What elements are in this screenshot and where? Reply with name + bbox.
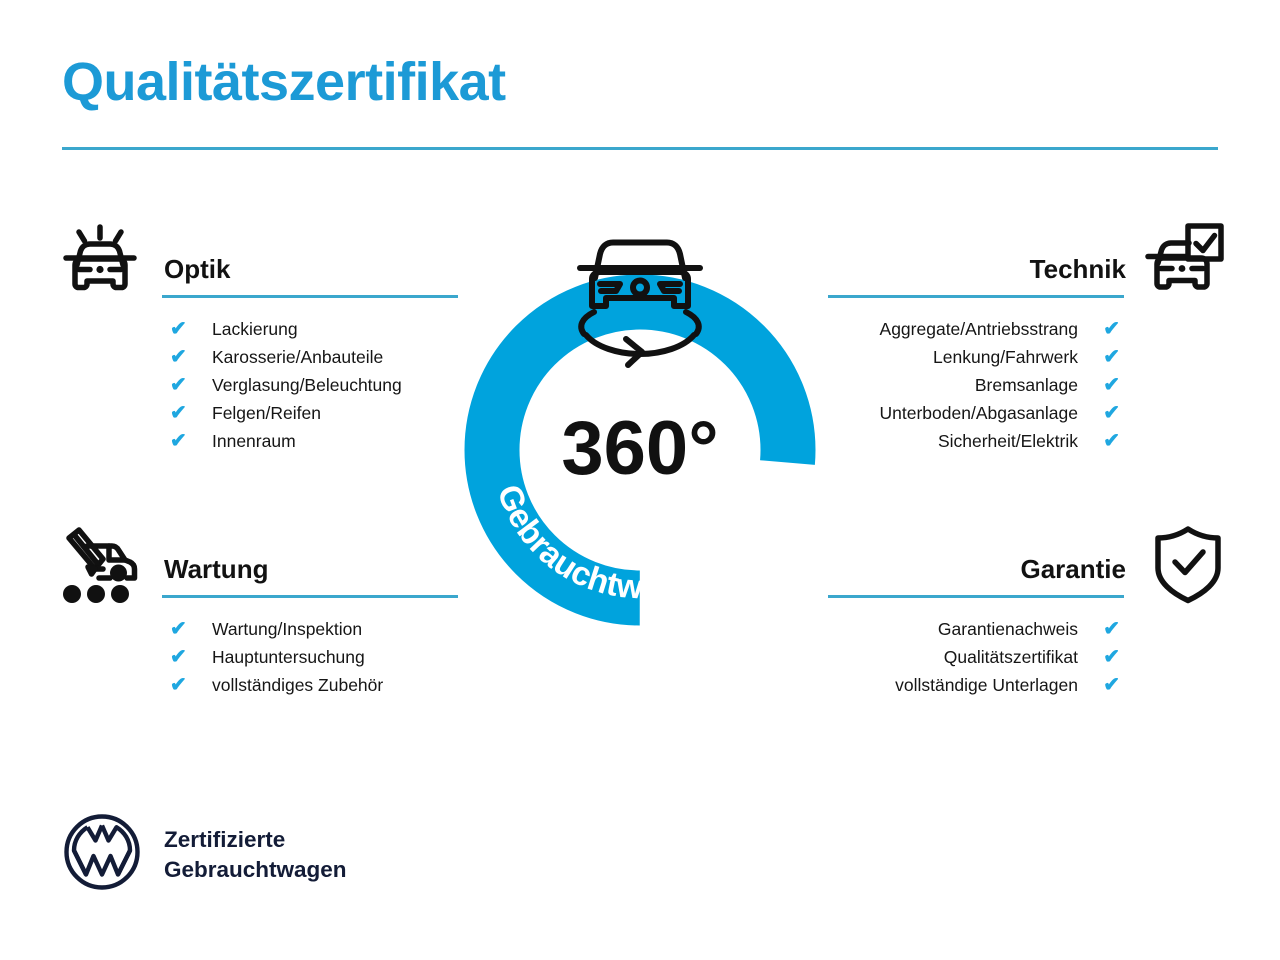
check-icon: ✔ bbox=[1090, 375, 1128, 395]
list-item: Bremsanlage✔ bbox=[828, 371, 1128, 399]
section-divider-garantie bbox=[828, 595, 1124, 598]
section-header-wartung: Wartung bbox=[162, 552, 462, 598]
checklist-wartung: ✔Wartung/Inspektion ✔Hauptuntersuchung ✔… bbox=[162, 615, 462, 699]
list-item: vollständige Unterlagen✔ bbox=[828, 671, 1128, 699]
list-item-label: Lackierung bbox=[200, 319, 298, 340]
check-icon: ✔ bbox=[162, 347, 200, 367]
shield-check-icon bbox=[1152, 522, 1224, 611]
section-title-garantie: Garantie bbox=[828, 552, 1128, 586]
list-item-label: Verglasung/Beleuchtung bbox=[200, 375, 402, 396]
vw-wordmark: Zertifizierte Gebrauchtwagen bbox=[164, 825, 347, 884]
check-icon: ✔ bbox=[1090, 347, 1128, 367]
list-item: ✔Karosserie/Anbauteile bbox=[162, 343, 462, 371]
check-icon: ✔ bbox=[162, 675, 200, 695]
list-item: ✔Verglasung/Beleuchtung bbox=[162, 371, 462, 399]
list-item: Aggregate/Antriebsstrang✔ bbox=[828, 315, 1128, 343]
checklist-garantie: Garantienachweis✔ Qualitätszertifikat✔ v… bbox=[828, 615, 1128, 699]
list-item: ✔Felgen/Reifen bbox=[162, 399, 462, 427]
360-check-badge: 360° Gebrauchtwagen-Check bbox=[452, 222, 828, 632]
vw-logo-icon bbox=[62, 812, 142, 897]
list-item-label: Bremsanlage bbox=[975, 375, 1090, 396]
check-icon: ✔ bbox=[162, 619, 200, 639]
list-item: Qualitätszertifikat✔ bbox=[828, 643, 1128, 671]
check-icon: ✔ bbox=[1090, 619, 1128, 639]
list-item-label: Aggregate/Antriebsstrang bbox=[880, 319, 1090, 340]
list-item: ✔vollständiges Zubehör bbox=[162, 671, 462, 699]
list-item-label: Karosserie/Anbauteile bbox=[200, 347, 383, 368]
check-icon: ✔ bbox=[1090, 675, 1128, 695]
section-title-technik: Technik bbox=[828, 252, 1128, 286]
section-divider-technik bbox=[828, 295, 1124, 298]
vw-wordmark-line2: Gebrauchtwagen bbox=[164, 855, 347, 885]
section-optik: Optik ✔Lackierung ✔Karosserie/Anbauteile… bbox=[162, 252, 462, 455]
section-title-optik: Optik bbox=[162, 252, 462, 286]
check-icon: ✔ bbox=[162, 403, 200, 423]
car-checkbox-icon bbox=[1142, 218, 1228, 309]
list-item-label: Unterboden/Abgasanlage bbox=[880, 403, 1091, 424]
checklist-technik: Aggregate/Antriebsstrang✔ Lenkung/Fahrwe… bbox=[828, 315, 1128, 455]
section-header-garantie: Garantie bbox=[828, 552, 1128, 598]
section-header-technik: Technik bbox=[828, 252, 1128, 298]
page-title: Qualitätszertifikat bbox=[62, 54, 506, 111]
badge-center-label: 360° bbox=[561, 406, 718, 491]
list-item: Unterboden/Abgasanlage✔ bbox=[828, 399, 1128, 427]
check-icon: ✔ bbox=[1090, 319, 1128, 339]
list-item-label: Sicherheit/Elektrik bbox=[938, 431, 1090, 452]
check-icon: ✔ bbox=[162, 431, 200, 451]
car-polish-icon bbox=[57, 218, 143, 309]
vw-certified-footer: Zertifizierte Gebrauchtwagen bbox=[62, 812, 347, 897]
list-item-label: Hauptuntersuchung bbox=[200, 647, 365, 668]
section-header-optik: Optik bbox=[162, 252, 462, 298]
vw-wordmark-line1: Zertifizierte bbox=[164, 825, 347, 855]
check-icon: ✔ bbox=[1090, 403, 1128, 423]
list-item-label: vollständiges Zubehör bbox=[200, 675, 383, 696]
section-wartung: Wartung ✔Wartung/Inspektion ✔Hauptunters… bbox=[162, 552, 462, 699]
car-pencil-icon bbox=[57, 522, 147, 611]
header-divider bbox=[62, 147, 1218, 150]
section-divider-optik bbox=[162, 295, 458, 298]
list-item-label: vollständige Unterlagen bbox=[895, 675, 1090, 696]
section-garantie: Garantie Garantienachweis✔ Qualitätszert… bbox=[828, 552, 1128, 699]
list-item-label: Innenraum bbox=[200, 431, 296, 452]
checklist-optik: ✔Lackierung ✔Karosserie/Anbauteile ✔Verg… bbox=[162, 315, 462, 455]
section-technik: Technik Aggregate/Antriebsstrang✔ Lenkun… bbox=[828, 252, 1128, 455]
list-item: Lenkung/Fahrwerk✔ bbox=[828, 343, 1128, 371]
section-divider-wartung bbox=[162, 595, 458, 598]
list-item: ✔Lackierung bbox=[162, 315, 462, 343]
check-icon: ✔ bbox=[162, 375, 200, 395]
check-icon: ✔ bbox=[162, 647, 200, 667]
list-item: Sicherheit/Elektrik✔ bbox=[828, 427, 1128, 455]
list-item-label: Garantienachweis bbox=[938, 619, 1090, 640]
check-icon: ✔ bbox=[1090, 647, 1128, 667]
check-icon: ✔ bbox=[162, 319, 200, 339]
list-item-label: Lenkung/Fahrwerk bbox=[933, 347, 1090, 368]
list-item: Garantienachweis✔ bbox=[828, 615, 1128, 643]
list-item-label: Wartung/Inspektion bbox=[200, 619, 362, 640]
section-title-wartung: Wartung bbox=[162, 552, 462, 586]
list-item-label: Felgen/Reifen bbox=[200, 403, 321, 424]
list-item: ✔Hauptuntersuchung bbox=[162, 643, 462, 671]
check-icon: ✔ bbox=[1090, 431, 1128, 451]
list-item: ✔Innenraum bbox=[162, 427, 462, 455]
list-item-label: Qualitätszertifikat bbox=[944, 647, 1090, 668]
list-item: ✔Wartung/Inspektion bbox=[162, 615, 462, 643]
